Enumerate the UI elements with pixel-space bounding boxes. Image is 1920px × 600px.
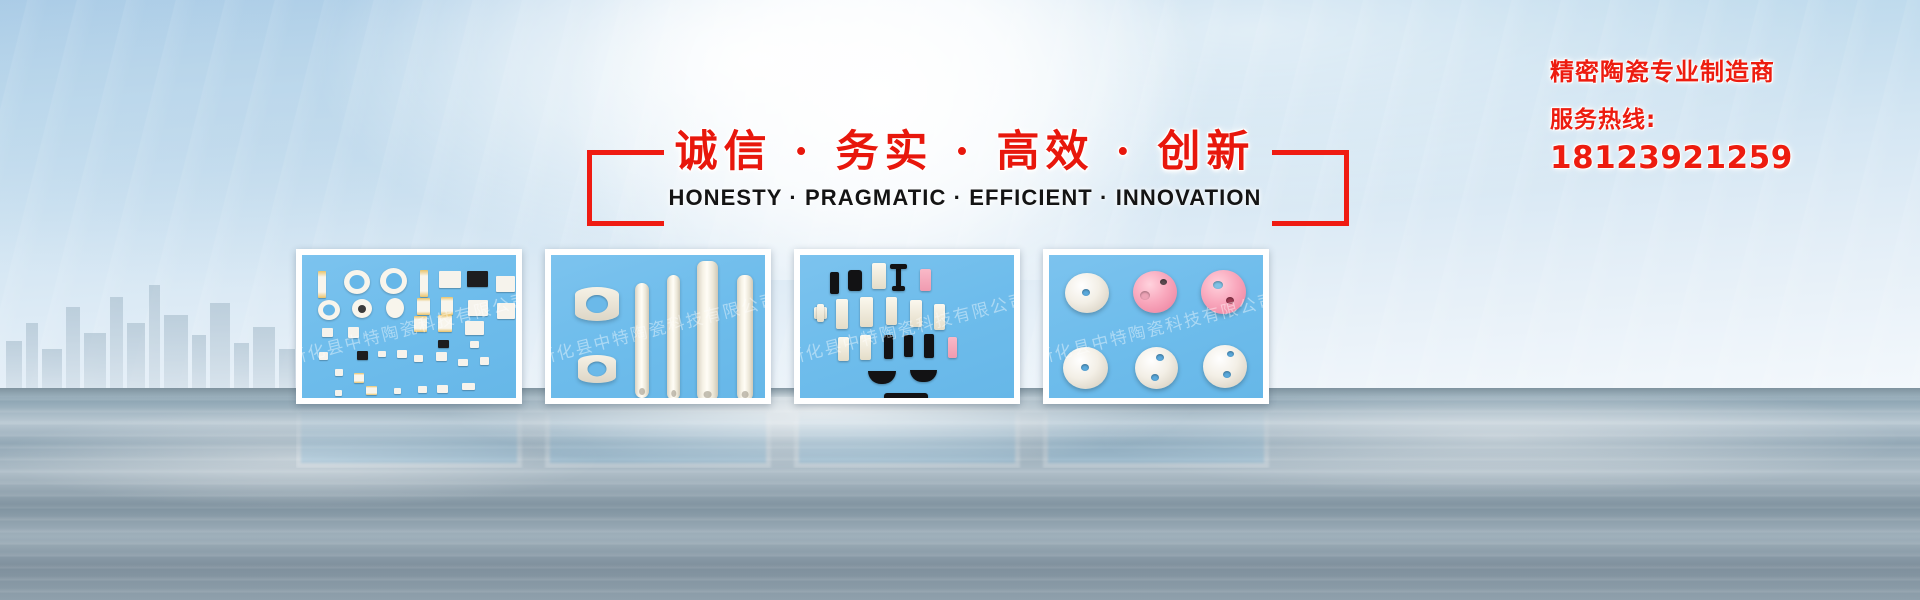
- hotline-label: 服务热线:: [1550, 100, 1880, 134]
- hotline-number[interactable]: 18123921259: [1550, 140, 1880, 176]
- water-sheen: [0, 388, 1920, 600]
- product-panel-3[interactable]: 新化县中特陶瓷科技有限公司: [794, 249, 1020, 404]
- product-panel-2-image: 新化县中特陶瓷科技有限公司: [551, 255, 765, 398]
- product-panel-3-image: 新化县中特陶瓷科技有限公司: [800, 255, 1014, 398]
- city-skyline: [0, 265, 330, 393]
- product-panel-4-image: 新化县中特陶瓷科技有限公司: [1049, 255, 1263, 398]
- product-panel-1-image: 新化县中特陶瓷科技有限公司: [302, 255, 516, 398]
- contact-block: 精密陶瓷专业制造商 服务热线: 18123921259: [1550, 52, 1880, 176]
- company-tagline: 精密陶瓷专业制造商: [1550, 52, 1880, 87]
- product-panel-2[interactable]: 新化县中特陶瓷科技有限公司: [545, 249, 771, 404]
- product-panel-strip: 新化县中特陶瓷科技有限公司 新化县中特陶瓷科技有限公司: [296, 249, 1274, 404]
- slogan-chinese: 诚信 · 务实 · 高效 · 创新: [560, 120, 1370, 184]
- slogan-english: HONESTY · PRAGMATIC · EFFICIENT · INNOVA…: [560, 185, 1370, 211]
- product-panel-4[interactable]: 新化县中特陶瓷科技有限公司: [1043, 249, 1269, 404]
- slogan-block: 诚信 · 务实 · 高效 · 创新 HONESTY · PRAGMATIC · …: [560, 120, 1370, 240]
- promo-banner: 诚信 · 务实 · 高效 · 创新 HONESTY · PRAGMATIC · …: [0, 0, 1920, 600]
- product-panel-1[interactable]: 新化县中特陶瓷科技有限公司: [296, 249, 522, 404]
